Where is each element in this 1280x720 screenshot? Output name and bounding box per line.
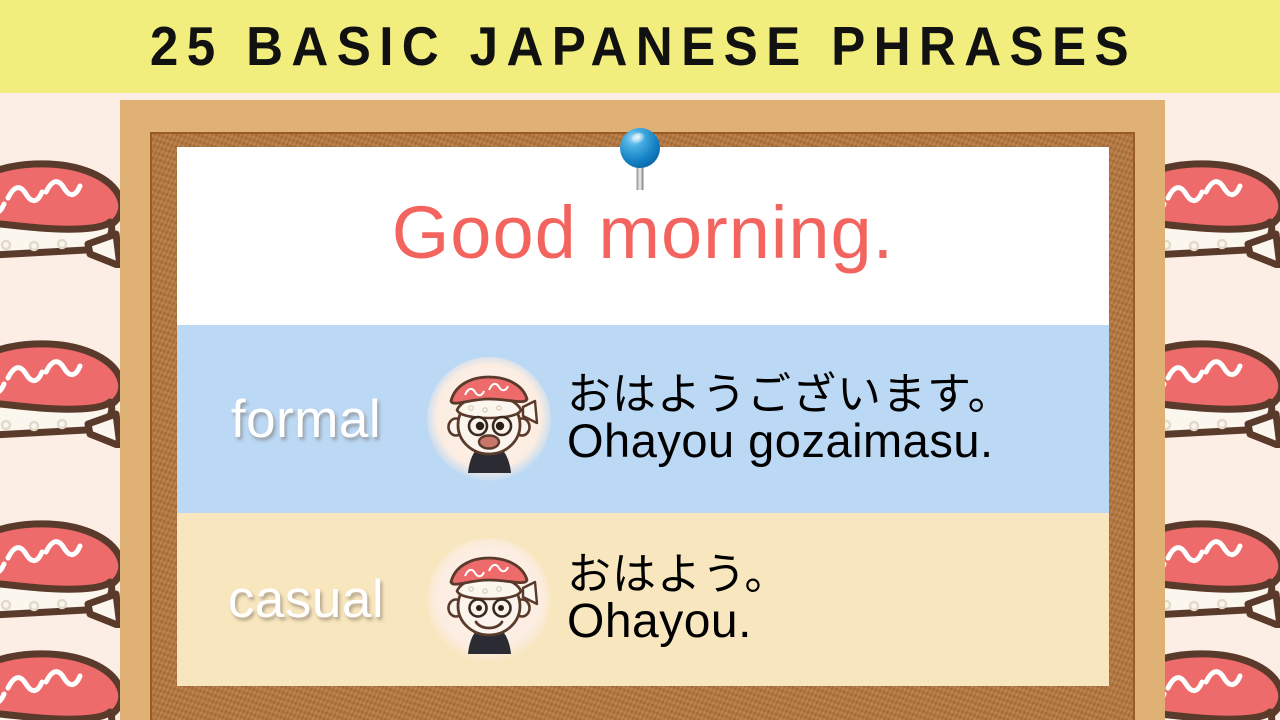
- pushpin-icon: [620, 128, 660, 190]
- register-label-formal: formal: [177, 389, 427, 450]
- casual-romaji-text: Ohayou.: [567, 597, 1109, 647]
- sushi-icon: [0, 640, 130, 720]
- formal-japanese-text: おはようございます。: [567, 372, 1109, 418]
- avatar-formal: [427, 357, 551, 481]
- slide-root: Good morning. formal: [0, 0, 1280, 720]
- casual-row: casual: [177, 513, 1109, 686]
- pushpin-head: [620, 128, 660, 168]
- english-phrase-text: Good morning.: [392, 196, 895, 276]
- casual-phrase-block: おはよう。 Ohayou.: [551, 552, 1109, 648]
- page-title: 25 BASIC JAPANESE PHRASES: [143, 19, 1138, 74]
- phrase-card: Good morning. formal: [177, 147, 1109, 686]
- avatar-casual: [427, 538, 551, 662]
- title-banner: 25 BASIC JAPANESE PHRASES: [0, 0, 1280, 93]
- sushi-hat-surprised-face-icon: [427, 357, 551, 481]
- sushi-hat-smiling-face-icon: [427, 538, 551, 662]
- register-label-casual: casual: [177, 569, 427, 630]
- formal-romaji-text: Ohayou gozaimasu.: [567, 417, 1109, 466]
- formal-row: formal: [177, 325, 1109, 513]
- casual-japanese-text: おはよう。: [567, 552, 1109, 598]
- formal-phrase-block: おはようございます。 Ohayou gozaimasu.: [551, 372, 1109, 467]
- pushpin-highlight: [630, 131, 646, 145]
- sushi-icon: [0, 330, 130, 448]
- sushi-icon: [0, 510, 130, 628]
- sushi-icon: [0, 150, 130, 268]
